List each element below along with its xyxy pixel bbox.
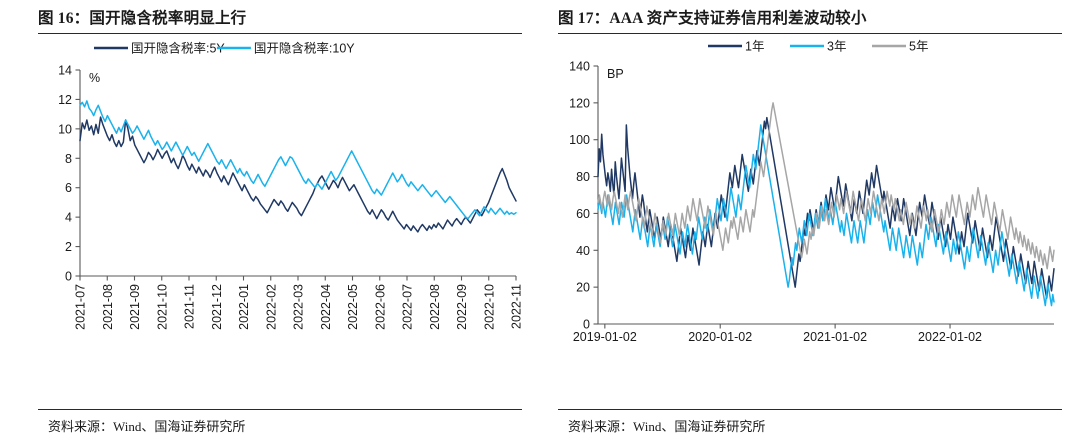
chart-legend: 1年3年5年 [708, 40, 928, 54]
line-chart-16: 国开隐含税率:5Y国开隐含税率:10Y02468101214%2021-0720… [38, 34, 522, 364]
x-tick-label-12: 2022-07 [401, 284, 415, 330]
x-tick-label-3: 2022-01-02 [918, 330, 982, 344]
y-unit-label: BP [607, 67, 624, 81]
y-tick-label-3: 6 [65, 182, 72, 196]
y-tick-label-5: 100 [569, 134, 590, 148]
x-tick-label-0: 2021-07 [74, 284, 88, 330]
x-tick-label-11: 2022-06 [373, 284, 387, 330]
y-tick-label-7: 14 [58, 64, 72, 78]
chart-legend: 国开隐含税率:5Y国开隐含税率:10Y [94, 41, 355, 56]
y-tick-label-0: 0 [65, 270, 72, 284]
x-tick-label-7: 2022-02 [264, 284, 278, 330]
figure-17-title: 图 17：AAA 资产支持证券信用利差波动较小 [558, 0, 1062, 33]
x-tick-label-13: 2022-08 [428, 284, 442, 330]
x-axis: 2021-072021-082021-092021-102021-112021-… [74, 276, 523, 330]
figure-panel-17: 图 17：AAA 资产支持证券信用利差波动较小 1年3年5年0204060801… [540, 0, 1080, 435]
line-chart-17: 1年3年5年020406080100120140BP2019-01-022020… [558, 34, 1062, 364]
y-tick-label-1: 20 [576, 281, 590, 295]
figure-16-chart: 国开隐含税率:5Y国开隐含税率:10Y02468101214%2021-0720… [38, 34, 522, 407]
x-tick-label-14: 2022-09 [455, 284, 469, 330]
x-tick-label-4: 2021-11 [183, 284, 197, 329]
y-tick-label-4: 80 [576, 170, 590, 184]
x-tick-label-1: 2020-01-02 [688, 330, 752, 344]
figure-panel-16: 图 16：国开隐含税率明显上行 国开隐含税率:5Y国开隐含税率:10Y02468… [0, 0, 540, 435]
y-tick-label-6: 12 [58, 93, 72, 107]
legend-label-1: 国开隐含税率:10Y [254, 41, 355, 56]
figure-17-chart: 1年3年5年020406080100120140BP2019-01-022020… [558, 34, 1062, 407]
figure-16-source: 资料来源：Wind、国海证券研究所 [38, 410, 522, 435]
series-path-0 [598, 118, 1054, 299]
figure-17-source: 资料来源：Wind、国海证券研究所 [558, 410, 1062, 435]
x-tick-label-2: 2021-09 [128, 284, 142, 330]
x-tick-label-2: 2021-01-02 [803, 330, 867, 344]
y-tick-label-5: 10 [58, 123, 72, 137]
y-tick-label-3: 60 [576, 207, 590, 221]
x-tick-label-0: 2019-01-02 [573, 330, 637, 344]
x-tick-label-5: 2021-12 [210, 284, 224, 330]
y-tick-label-7: 140 [569, 60, 590, 74]
legend-label-0: 1年 [745, 40, 764, 54]
y-unit-label: % [89, 71, 100, 85]
x-tick-label-9: 2022-04 [319, 284, 333, 330]
x-tick-label-8: 2022-03 [292, 284, 306, 330]
legend-label-0: 国开隐含税率:5Y [131, 41, 225, 56]
x-tick-label-16: 2022-11 [510, 284, 523, 329]
figure-16-title: 图 16：国开隐含税率明显上行 [38, 0, 522, 33]
y-tick-label-6: 120 [569, 97, 590, 111]
y-axis: 020406080100120140 [569, 60, 598, 332]
x-tick-label-3: 2021-10 [155, 284, 169, 330]
y-tick-label-4: 8 [65, 152, 72, 166]
x-tick-label-15: 2022-10 [482, 284, 496, 330]
x-tick-label-6: 2022-01 [237, 284, 251, 330]
series-path-0 [80, 117, 516, 232]
x-tick-label-1: 2021-08 [101, 284, 115, 330]
x-axis: 2019-01-022020-01-022021-01-022022-01-02 [573, 324, 1054, 344]
y-axis: 02468101214 [58, 64, 80, 284]
y-tick-label-2: 40 [576, 244, 590, 258]
legend-label-2: 5年 [909, 40, 928, 54]
y-tick-label-2: 4 [65, 211, 72, 225]
x-tick-label-10: 2022-05 [346, 284, 360, 330]
figures-page: 图 16：国开隐含税率明显上行 国开隐含税率:5Y国开隐含税率:10Y02468… [0, 0, 1080, 435]
y-tick-label-1: 2 [65, 240, 72, 254]
legend-label-1: 3年 [827, 40, 846, 54]
